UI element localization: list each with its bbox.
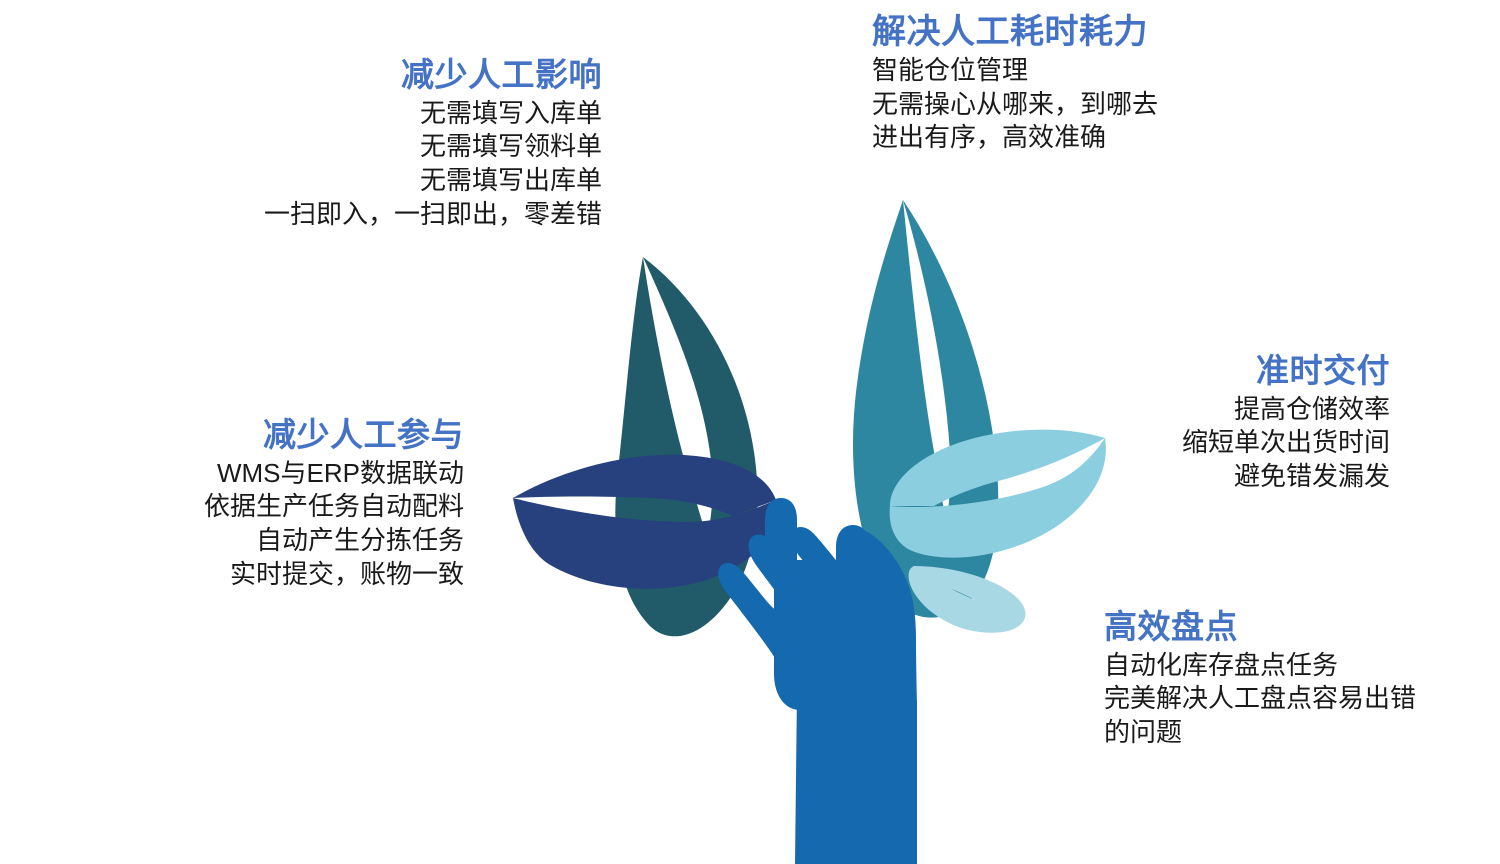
callout-line: 实时提交，账物一致	[178, 558, 464, 592]
callout-line: 的问题	[1104, 716, 1464, 750]
callout-title: 高效盘点	[1104, 608, 1464, 647]
callout-line: 无需操心从哪来，到哪去	[872, 88, 1292, 122]
callout-reduce-manual-involvement: 减少人工参与 WMS与ERP数据联动 依据生产任务自动配料 自动产生分拣任务 实…	[178, 416, 464, 591]
callout-line: 一扫即入，一扫即出，零差错	[240, 198, 602, 232]
callout-line: 提高仓储效率	[1030, 393, 1390, 427]
callout-title: 减少人工影响	[240, 56, 602, 95]
callout-line: 自动化库存盘点任务	[1104, 649, 1464, 683]
callout-body: 自动化库存盘点任务 完美解决人工盘点容易出错 的问题	[1104, 649, 1464, 750]
callout-body: 提高仓储效率 缩短单次出货时间 避免错发漏发	[1030, 393, 1390, 494]
callout-title: 解决人工耗时耗力	[872, 12, 1292, 52]
callout-body: 无需填写入库单 无需填写领料单 无需填写出库单 一扫即入，一扫即出，零差错	[240, 97, 602, 231]
callout-line: 进出有序，高效准确	[872, 121, 1292, 155]
callout-line: 缩短单次出货时间	[1030, 426, 1390, 460]
leaf-dark-teal-icon	[615, 257, 757, 636]
leaf-navy-icon	[513, 455, 777, 589]
callout-line: WMS与ERP数据联动	[178, 457, 464, 491]
callout-on-time-delivery: 准时交付 提高仓储效率 缩短单次出货时间 避免错发漏发	[1030, 352, 1390, 494]
callout-solve-labor-cost: 解决人工耗时耗力 智能仓位管理 无需操心从哪来，到哪去 进出有序，高效准确	[872, 12, 1292, 155]
callout-line: 完美解决人工盘点容易出错	[1104, 682, 1464, 716]
callout-line: 避免错发漏发	[1030, 460, 1390, 494]
callout-reduce-manual-impact: 减少人工影响 无需填写入库单 无需填写领料单 无需填写出库单 一扫即入，一扫即出…	[240, 56, 602, 231]
leaf-teal-icon	[853, 200, 998, 618]
callout-efficient-stocktaking: 高效盘点 自动化库存盘点任务 完美解决人工盘点容易出错 的问题	[1104, 608, 1464, 750]
callout-line: 自动产生分拣任务	[178, 524, 464, 558]
hand-trunk-icon	[718, 498, 917, 864]
callout-line: 依据生产任务自动配料	[178, 490, 464, 524]
callout-line: 无需填写出库单	[240, 164, 602, 198]
callout-line: 无需填写领料单	[240, 130, 602, 164]
infographic-canvas: 减少人工影响 无需填写入库单 无需填写领料单 无需填写出库单 一扫即入，一扫即出…	[0, 0, 1500, 864]
callout-line: 智能仓位管理	[872, 54, 1292, 88]
leaf-pale-blue-icon	[909, 566, 1026, 633]
callout-title: 减少人工参与	[178, 416, 464, 455]
callout-title: 准时交付	[1030, 352, 1390, 391]
callout-line: 无需填写入库单	[240, 97, 602, 131]
callout-body: 智能仓位管理 无需操心从哪来，到哪去 进出有序，高效准确	[872, 54, 1292, 155]
callout-body: WMS与ERP数据联动 依据生产任务自动配料 自动产生分拣任务 实时提交，账物一…	[178, 457, 464, 591]
